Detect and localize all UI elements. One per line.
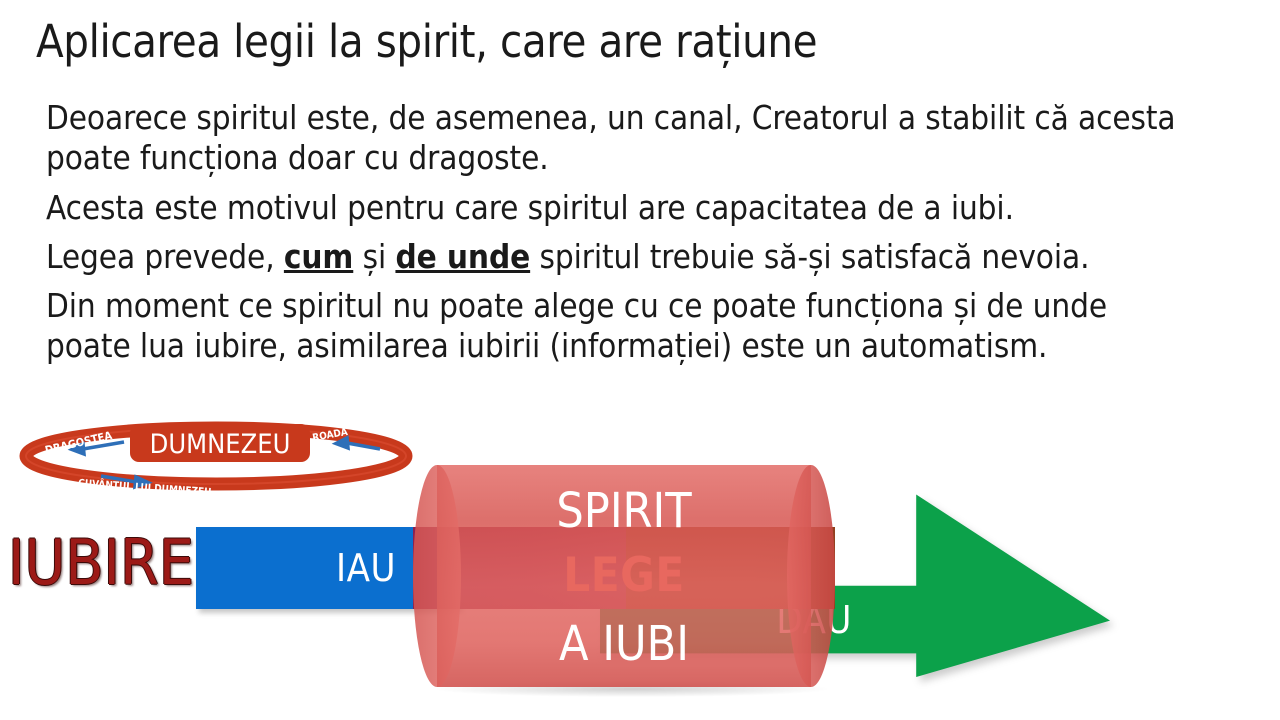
god-loop-graphic: DRAGOSTEA ROADĂ CUVÂNTUL LUI DUMNEZEU DU… [16,416,416,496]
page-title: Aplicarea legii la spirit, care are rați… [36,16,1246,68]
paragraph-3-seg-3: spiritul trebuie să-și satisfacă nevoia. [530,237,1089,276]
paragraph-1: Deoarece spiritul este, de asemenea, un … [46,98,1182,179]
flow-diagram: DRAGOSTEA ROADĂ CUVÂNTUL LUI DUMNEZEU DU… [0,410,1280,720]
paragraph-2: Acesta este motivul pentru care spiritul… [46,188,1182,228]
god-box-label: DUMNEZEU [150,429,291,460]
paragraph-3-seg-1: Legea prevede, [46,237,284,276]
paragraph-3-emph-cum: cum [284,237,353,276]
paragraph-3-emph-de-unde: de unde [395,237,530,276]
body-text-block: Deoarece spiritul este, de asemenea, un … [46,98,1182,376]
paragraph-4: Din moment ce spiritul nu poate alege cu… [46,286,1182,367]
love-label: IUBIRE [8,532,194,594]
cylinder-shadow [437,681,827,697]
blend-band-right [626,527,835,609]
paragraph-3-seg-2: și [353,237,395,276]
god-loop-svg: DRAGOSTEA ROADĂ CUVÂNTUL LUI DUMNEZEU DU… [16,416,416,496]
blend-band-left [413,527,626,609]
paragraph-3: Legea prevede, cum și de unde spiritul t… [46,237,1182,277]
